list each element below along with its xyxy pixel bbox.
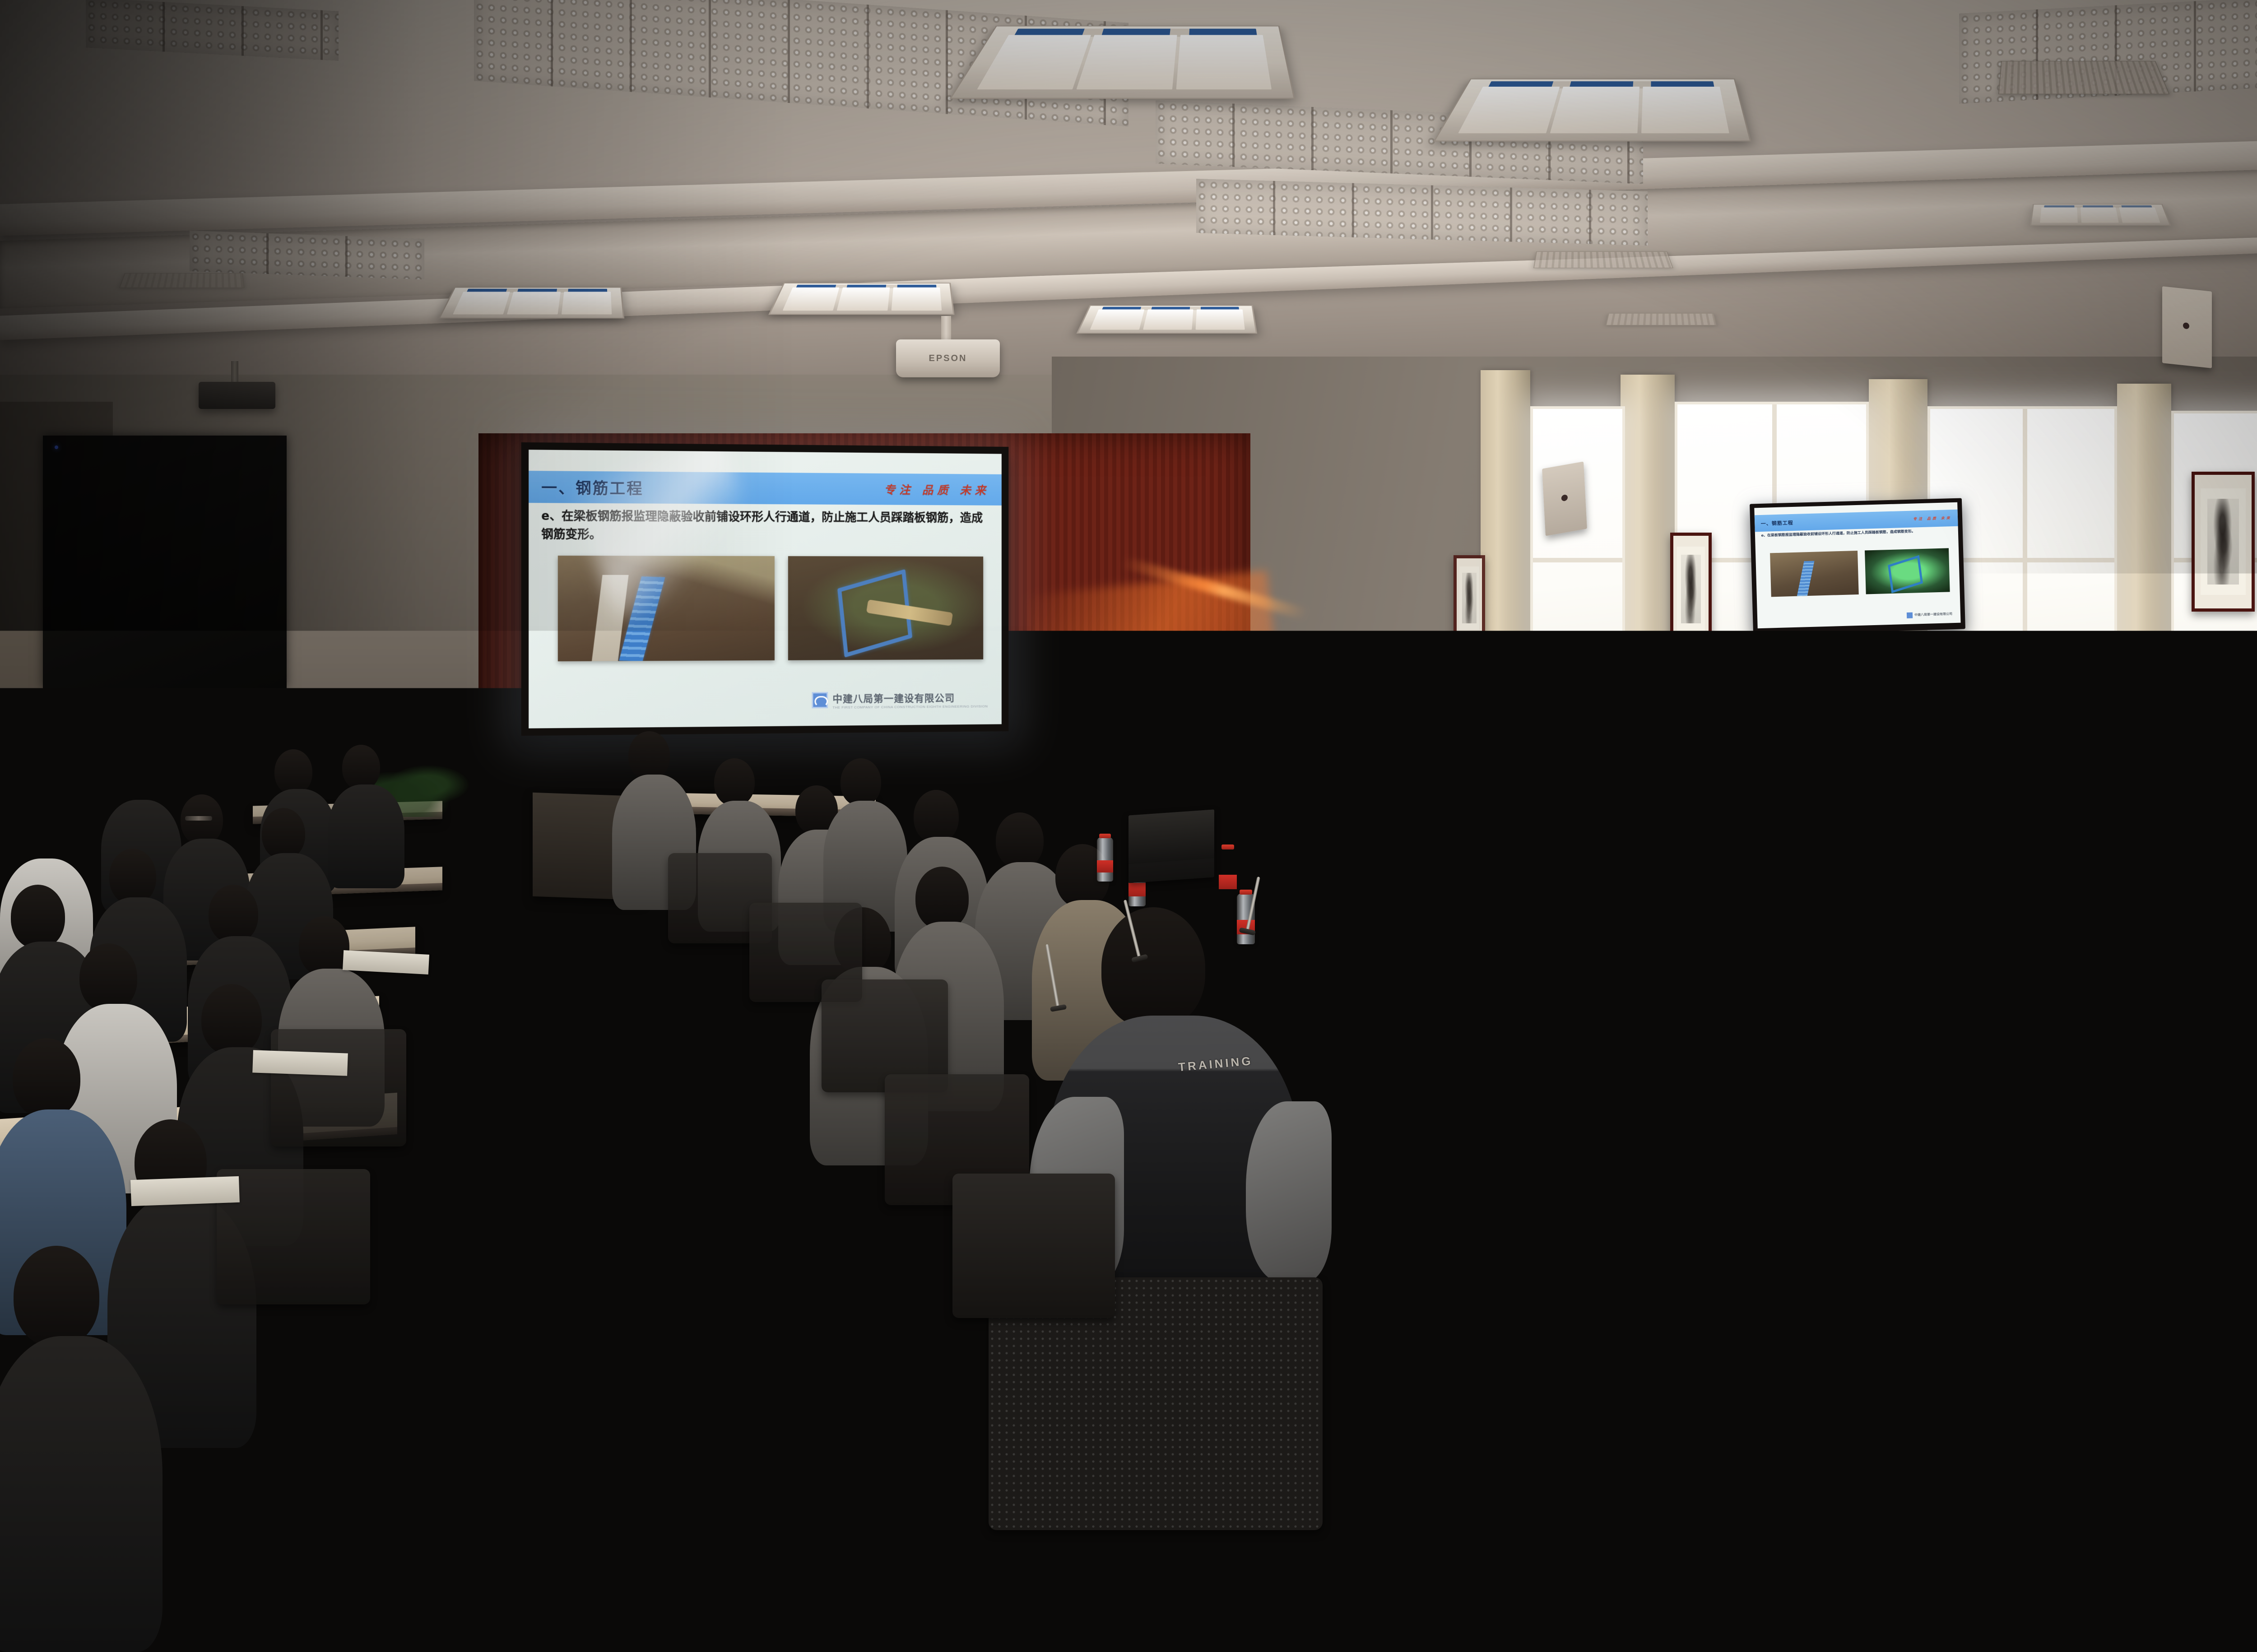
- chair-stage-5[interactable]: [952, 1174, 1115, 1318]
- laptop-2[interactable]: [1408, 838, 1485, 900]
- backpack-foreground[interactable]: [1927, 1174, 2257, 1399]
- water-bottle-1[interactable]: [1519, 1043, 1542, 1110]
- wall-speaker-right: [2162, 286, 2212, 368]
- papers-3[interactable]: [252, 1050, 348, 1076]
- water-bottle-8[interactable]: [1097, 837, 1113, 882]
- projector-secondary: [199, 382, 275, 409]
- bag-mid[interactable]: [1548, 916, 1697, 998]
- slide-photo-row: [558, 556, 983, 661]
- framed-artwork-3: [1454, 555, 1485, 641]
- tv-panel: 一、钢筋工程 专注 品质 未来 e、在梁板钢筋报监理隐蔽验收前铺设环形人行通道，…: [1754, 502, 1960, 628]
- chair-left-2[interactable]: [217, 1169, 370, 1304]
- papers-5[interactable]: [1946, 1128, 2050, 1154]
- ceiling-light-fixture-1: [949, 26, 1295, 99]
- projector-brand-label: EPSON: [929, 353, 967, 364]
- wall-speaker-pillar: [1542, 462, 1587, 536]
- tv-slide-slogan: 专注 品质 未来: [1913, 515, 1952, 521]
- slide-photo-left: [558, 556, 775, 661]
- chair-left-1[interactable]: [271, 1029, 406, 1146]
- ceiling-air-vent-4: [119, 273, 245, 288]
- papers-1[interactable]: [1570, 1063, 1666, 1091]
- window-1: [1530, 406, 1625, 758]
- display-power-led: [55, 445, 58, 449]
- wall-mounted-tv: 一、钢筋工程 专注 品质 未来 e、在梁板钢筋报监理隐蔽验收前铺设环形人行通道，…: [1750, 498, 1965, 635]
- tv-company-logo-icon: [1907, 612, 1913, 618]
- slide-title: 一、钢筋工程: [541, 475, 644, 498]
- ceiling-light-fixture-5: [438, 287, 624, 319]
- ceiling-light-fixture-4: [1077, 305, 1258, 334]
- slide-footer-company: 中建八局第一建设有限公司: [832, 693, 955, 705]
- conference-room-scene: EPSON 一、钢筋工程 专注 品质 未来 e、在梁板钢筋报监理隐蔽验收前铺设环…: [0, 0, 2257, 1560]
- tv-footer-company: 中建八局第一建设有限公司: [1914, 612, 1952, 617]
- plant-centre-2: [1282, 970, 1399, 1034]
- papers-4[interactable]: [130, 1176, 240, 1206]
- ceiling-air-vent-3: [1606, 313, 1717, 325]
- framed-artwork-1: [1670, 533, 1712, 645]
- company-logo-icon: [812, 692, 828, 708]
- projector-mount-arm: [941, 316, 951, 342]
- bag-right[interactable]: [1769, 871, 1882, 930]
- slide-photo-right: [788, 556, 983, 660]
- ceiling-air-vent-2: [1533, 251, 1673, 268]
- tv-photo-left: [1770, 551, 1859, 597]
- ceiling-air-vent-1: [1998, 61, 2170, 94]
- ceiling-light-fixture-2: [1433, 79, 1751, 141]
- ceiling-light-fixture-3: [768, 283, 954, 315]
- wall-pillar-4: [2117, 384, 2171, 772]
- slide-slogan: 专注 品质 未来: [884, 481, 990, 497]
- tv-photo-right: [1865, 548, 1950, 594]
- laptop-1[interactable]: [1128, 809, 1214, 883]
- projector-epson: EPSON: [896, 339, 1000, 377]
- presentation-slide: 一、钢筋工程 专注 品质 未来 e、在梁板钢筋报监理隐蔽验收前铺设环形人行通道，…: [529, 450, 1002, 728]
- left-wall-display[interactable]: [43, 436, 287, 688]
- slide-footer-company-en: THE FIRST COMPANY OF CHINA CONSTRUCTION …: [832, 704, 988, 710]
- acoustic-ceiling-tiles-6: [190, 231, 424, 279]
- ceiling-light-fixture-6: [2030, 204, 2171, 226]
- tv-photo-row: [1770, 548, 1950, 597]
- slide-header-bar: 一、钢筋工程 专注 品质 未来: [529, 471, 1002, 506]
- projector-mount-arm-2: [231, 361, 238, 385]
- tv-slide-title: 一、钢筋工程: [1761, 519, 1793, 527]
- chair-left-3[interactable]: [153, 1345, 343, 1517]
- projection-screen: 一、钢筋工程 专注 品质 未来 e、在梁板钢筋报监理隐蔽验收前铺设环形人行通道，…: [521, 442, 1009, 736]
- water-bottle-2[interactable]: [1219, 849, 1237, 899]
- slide-body-text: e、在梁板钢筋报监理隐蔽验收前铺设环形人行通道，防止施工人员踩踏板钢筋，造成钢筋…: [541, 507, 989, 545]
- tv-footer: 中建八局第一建设有限公司: [1907, 611, 1952, 618]
- slide-footer: 中建八局第一建设有限公司 THE FIRST COMPANY OF CHINA …: [812, 690, 988, 709]
- framed-artwork-2: [2192, 472, 2255, 612]
- water-bottle-7[interactable]: [1724, 849, 1741, 892]
